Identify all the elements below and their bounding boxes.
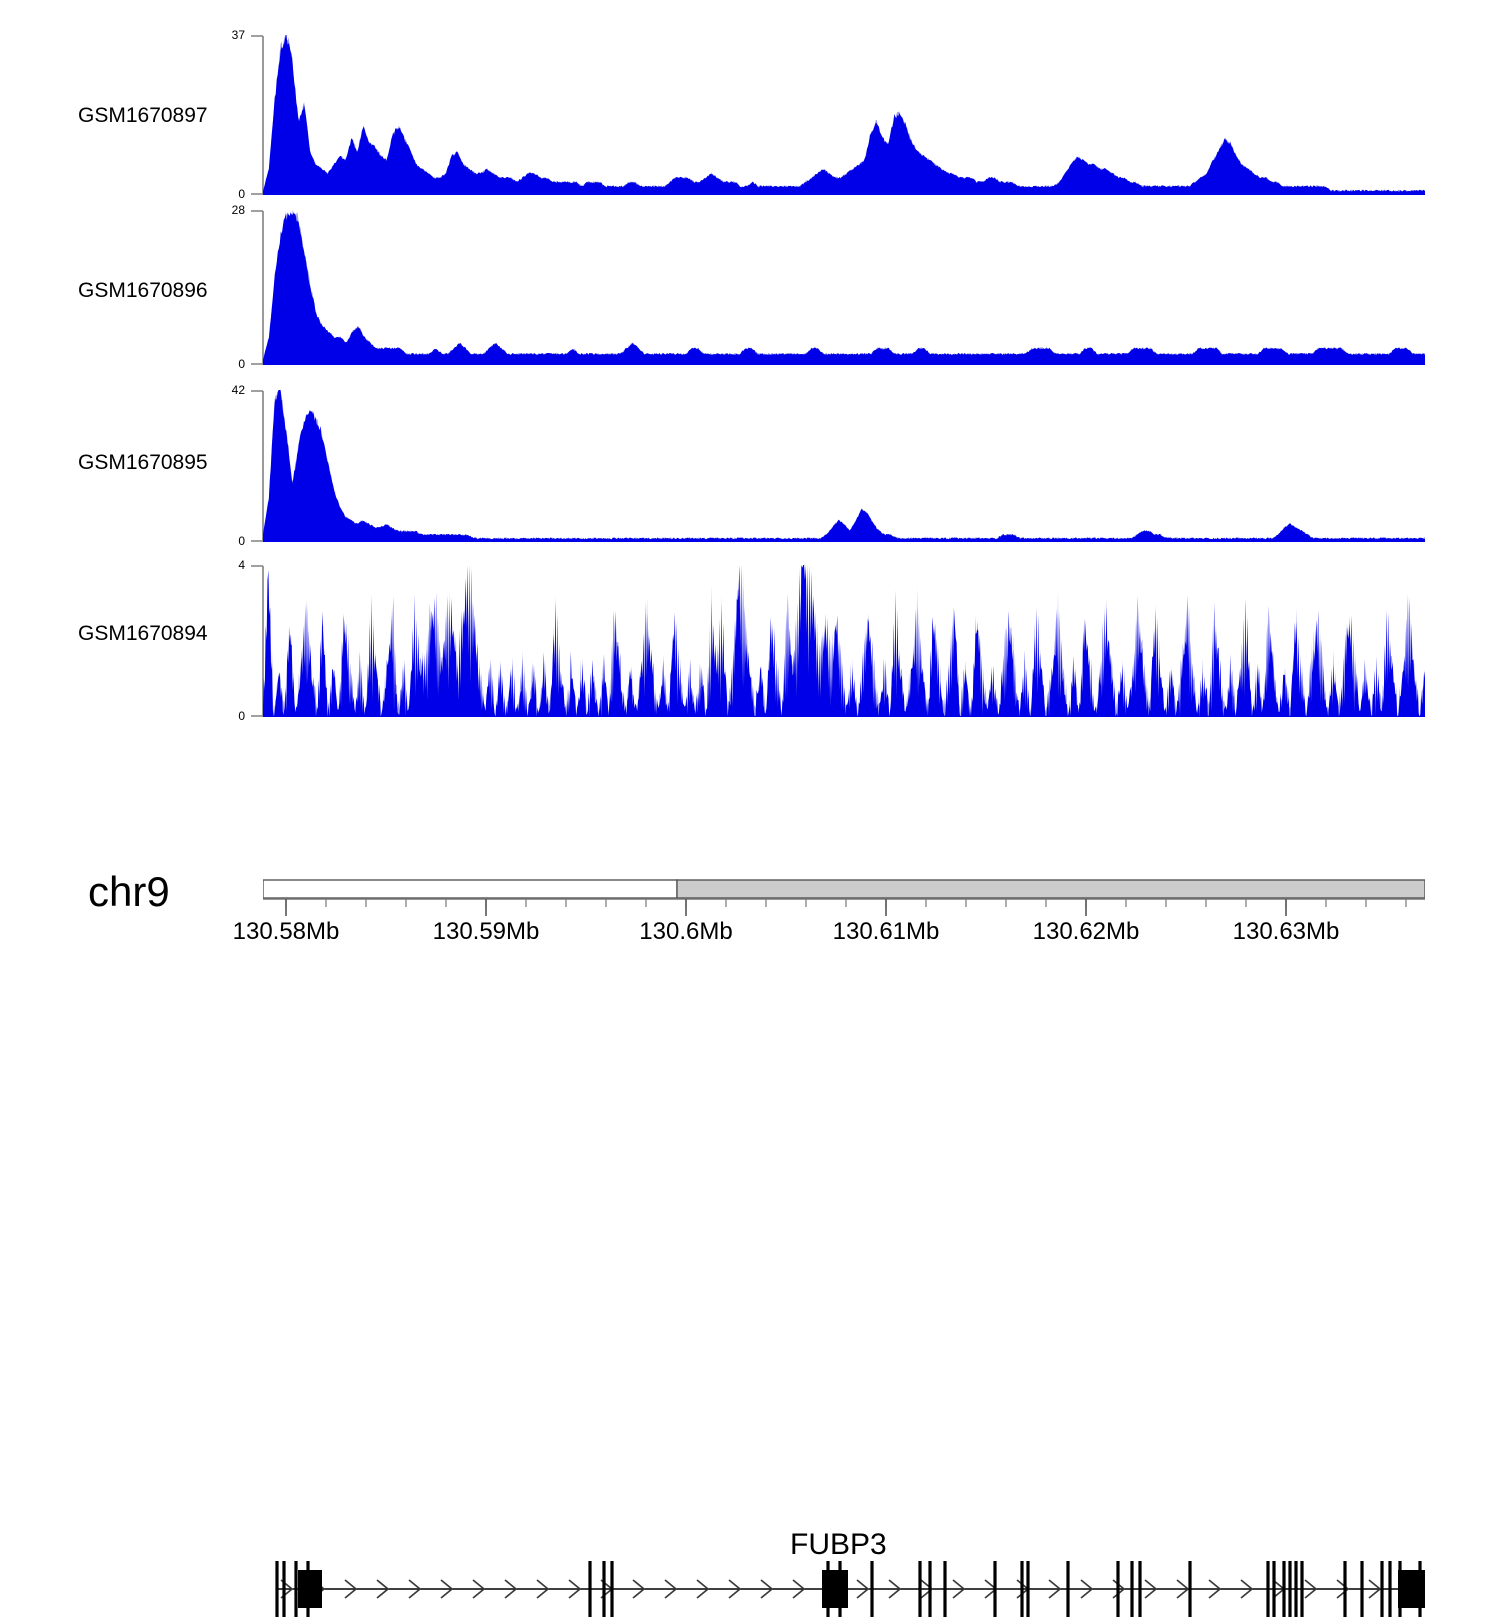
axis-min-gsm1670896: 0 <box>238 357 245 371</box>
axis-tick-label: 130.61Mb <box>833 918 940 946</box>
ideogram-band-light <box>263 880 677 898</box>
axis-min-gsm1670894: 0 <box>238 709 245 723</box>
gene-cds-box <box>298 1570 322 1608</box>
gene-exon <box>1360 1561 1363 1617</box>
gene-exon <box>1380 1561 1383 1617</box>
gene-exon <box>282 1561 285 1617</box>
gene-annotation-track[interactable]: FUBP3 <box>0 760 1500 870</box>
axis-tick-label: 130.62Mb <box>1033 918 1140 946</box>
track-label-gsm1670895: GSM1670895 <box>78 451 208 475</box>
gene-exon <box>1026 1561 1029 1617</box>
axis-tick-label: 130.59Mb <box>433 918 540 946</box>
gene-exon <box>1282 1561 1285 1617</box>
gene-exon <box>993 1561 996 1617</box>
axis-max-gsm1670895: 42 <box>232 383 245 397</box>
track-label-gsm1670896: GSM1670896 <box>78 279 208 303</box>
gene-cds-box <box>822 1570 848 1608</box>
coverage-plot-gsm1670897[interactable] <box>263 35 1425 195</box>
gene-exon <box>1272 1561 1275 1617</box>
gene-exon <box>602 1561 605 1617</box>
coverage-plot-gsm1670896[interactable] <box>263 210 1425 365</box>
axis-tick-label: 130.58Mb <box>233 918 340 946</box>
gene-exon <box>1343 1561 1346 1617</box>
gene-exon <box>1300 1561 1303 1617</box>
gene-cds-box <box>1398 1570 1425 1608</box>
gene-exon <box>1116 1561 1119 1617</box>
genome-browser: GSM1670897370GSM1670896280GSM1670895420G… <box>0 0 1500 980</box>
gene-exon <box>1188 1561 1191 1617</box>
gene-exon <box>294 1561 297 1617</box>
track-label-gsm1670894: GSM1670894 <box>78 622 208 646</box>
coverage-plot-gsm1670895[interactable] <box>263 390 1425 542</box>
gene-exon <box>1388 1561 1391 1617</box>
chromosome-label: chr9 <box>88 868 170 916</box>
coverage-plot-gsm1670894[interactable] <box>263 565 1425 717</box>
axis-max-gsm1670894: 4 <box>238 558 245 572</box>
gene-exon <box>610 1561 613 1617</box>
track-label-gsm1670897: GSM1670897 <box>78 104 208 128</box>
genome-coordinate-axis <box>263 898 1425 920</box>
axis-min-gsm1670895: 0 <box>238 534 245 548</box>
gene-model-diagram[interactable] <box>263 1555 1425 1623</box>
gene-exon <box>928 1561 931 1617</box>
gene-exon <box>1288 1561 1291 1617</box>
gene-exon <box>918 1561 921 1617</box>
gene-exon <box>1066 1561 1069 1617</box>
gene-exon <box>275 1561 278 1617</box>
gene-exon <box>1294 1561 1297 1617</box>
gene-exon <box>1130 1561 1133 1617</box>
ideogram-bar[interactable] <box>263 878 1425 900</box>
gene-exon <box>1138 1561 1141 1617</box>
gene-exon <box>943 1561 946 1617</box>
axis-max-gsm1670896: 28 <box>232 203 245 217</box>
ideogram-band-dark <box>677 880 1425 898</box>
gene-exon <box>1020 1561 1023 1617</box>
axis-min-gsm1670897: 0 <box>238 187 245 201</box>
axis-tick-label: 130.6Mb <box>639 918 732 946</box>
axis-max-gsm1670897: 37 <box>232 28 245 42</box>
gene-exon <box>870 1561 873 1617</box>
axis-tick-label: 130.63Mb <box>1233 918 1340 946</box>
gene-exon <box>588 1561 591 1617</box>
gene-exon <box>1266 1561 1269 1617</box>
